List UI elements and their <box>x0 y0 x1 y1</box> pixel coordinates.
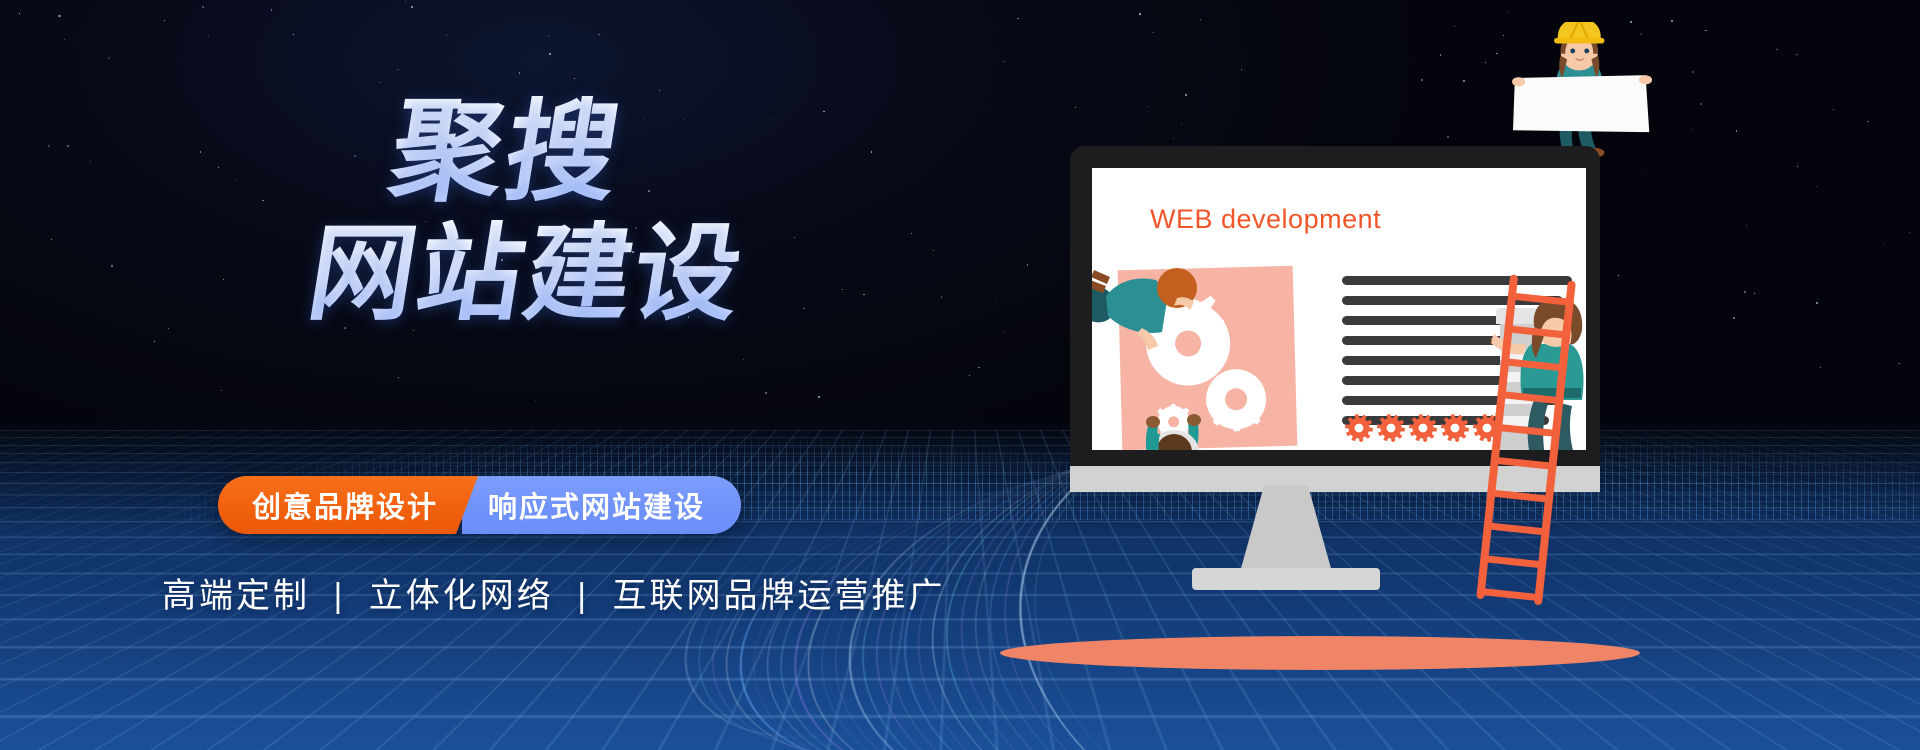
star <box>405 1 406 2</box>
star <box>379 82 380 83</box>
badge-responsive-site-build[interactable]: 响应式网站建设 <box>462 476 741 534</box>
star <box>549 53 551 55</box>
star <box>933 250 934 251</box>
star <box>863 294 865 296</box>
service-badges: 创意品牌设计 响应式网站建设 <box>218 476 741 534</box>
person-climbing-left-edge <box>1092 240 1216 390</box>
star <box>871 151 872 152</box>
star <box>1003 61 1004 62</box>
tagline: 高端定制 | 立体化网络 | 互联网品牌运营推广 <box>162 568 946 617</box>
engineer-blueprint <box>1513 75 1649 132</box>
orange-gear <box>1408 413 1438 443</box>
star <box>58 15 60 17</box>
ladder-rung <box>1501 358 1567 372</box>
star <box>168 328 169 329</box>
orange-gear <box>1440 413 1470 443</box>
illustration: WEB development <box>1010 0 1920 750</box>
tagline-item-1: 高端定制 <box>162 577 310 615</box>
tagline-item-3: 互联网品牌运营推广 <box>613 577 946 615</box>
star <box>574 78 575 79</box>
star <box>293 34 294 35</box>
ladder-rung <box>1508 292 1574 306</box>
ladder-rung <box>1480 555 1546 569</box>
star <box>446 34 448 36</box>
tagline-separator-2: | <box>566 577 600 615</box>
ladder-rung <box>1487 489 1553 503</box>
orange-gear <box>1376 413 1406 443</box>
star <box>995 302 996 303</box>
star <box>519 72 520 73</box>
badge-creative-brand-design[interactable]: 创意品牌设计 <box>218 476 478 534</box>
star <box>19 13 20 14</box>
tagline-separator-1: | <box>322 577 356 615</box>
person-holding-poster <box>1118 404 1238 450</box>
star <box>548 36 549 37</box>
monitor-stand-base <box>1192 568 1380 590</box>
ladder-rung <box>1497 391 1563 405</box>
star <box>598 34 599 35</box>
star <box>164 20 165 21</box>
star <box>941 296 943 298</box>
headline-subtitle: 网站建设 <box>0 220 809 328</box>
tagline-item-2: 立体化网络 <box>369 577 554 615</box>
orange-gear <box>1344 413 1374 443</box>
star <box>271 9 273 11</box>
engineer-helmet <box>1554 22 1604 43</box>
star <box>842 289 843 290</box>
ladder-rung <box>1504 325 1570 339</box>
person-engineer-with-blueprint <box>1508 22 1658 162</box>
ladder-rung <box>1494 424 1560 438</box>
ladder-rung <box>1483 522 1549 536</box>
brand-name: 聚搜 <box>0 96 809 208</box>
star <box>397 69 399 71</box>
star <box>202 6 204 8</box>
star <box>911 233 913 235</box>
ladder-rung <box>1477 588 1543 602</box>
star <box>803 308 804 309</box>
star <box>411 6 413 8</box>
promo-banner: 聚搜 网站建设 创意品牌设计 响应式网站建设 高端定制 | 立体化网络 | 互联… <box>0 0 1920 750</box>
star <box>659 90 660 91</box>
ladder-rung <box>1490 456 1556 470</box>
headline-block: 聚搜 网站建设 <box>0 96 800 328</box>
star <box>823 111 825 113</box>
ground-ellipse <box>1000 636 1640 670</box>
star <box>208 35 209 36</box>
monitor-stand-neck <box>1240 486 1332 572</box>
star <box>108 57 110 59</box>
screen-title: WEB development <box>1150 204 1381 235</box>
star <box>64 39 65 40</box>
